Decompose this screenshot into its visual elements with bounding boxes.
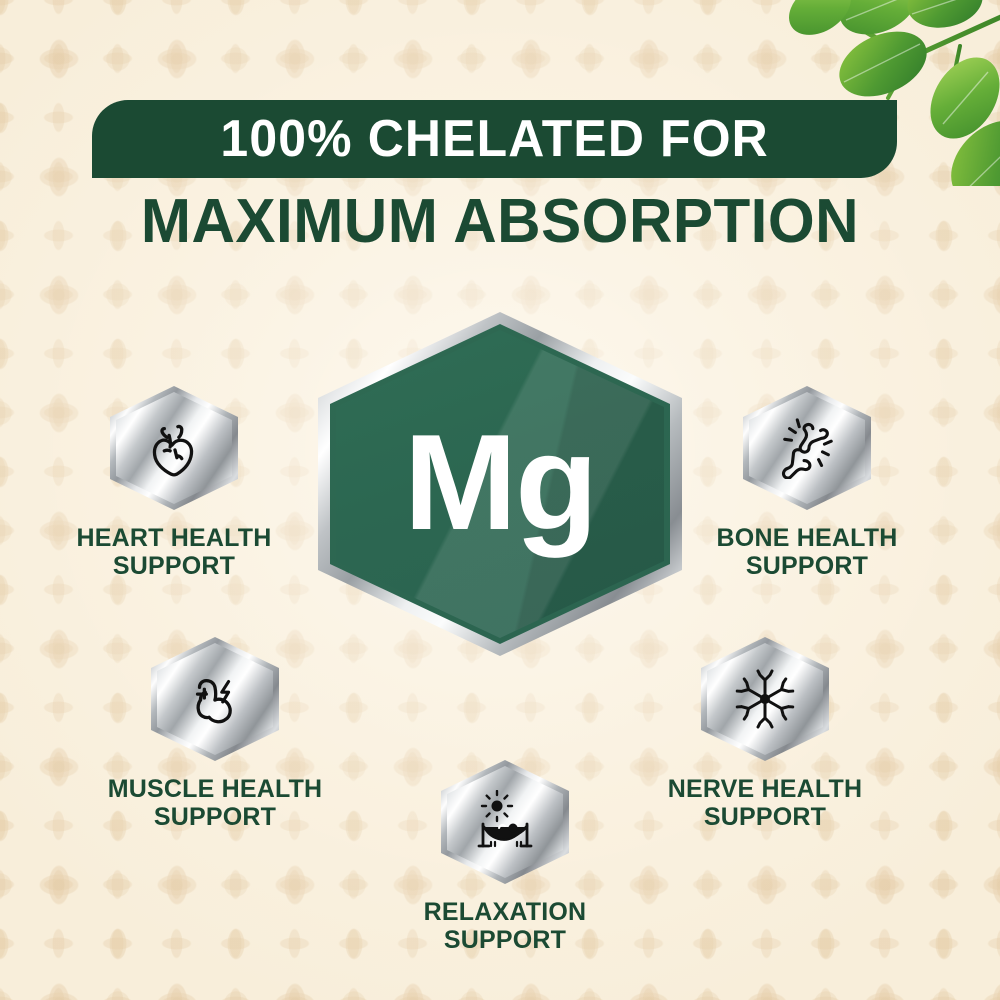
magnesium-benefits-infographic: 100% CHELATED FOR MAXIMUM ABSORPTION Mg: [0, 0, 1000, 1000]
benefit-nerve-health: NERVE HEALTH SUPPORT: [650, 637, 880, 831]
label-line-1: BONE HEALTH: [717, 524, 898, 552]
flexed-bicep-icon: [151, 637, 279, 761]
benefit-hex-heart: [110, 386, 238, 510]
benefit-hex-bone: [743, 386, 871, 510]
benefit-hex-nerve: [701, 637, 829, 761]
benefit-bone-health: BONE HEALTH SUPPORT: [692, 386, 922, 580]
label-line-2: SUPPORT: [154, 803, 276, 831]
label-line-2: SUPPORT: [113, 552, 235, 580]
label-line-1: MUSCLE HEALTH: [108, 775, 323, 803]
magnesium-badge: Mg: [318, 312, 682, 656]
label-line-2: SUPPORT: [746, 552, 868, 580]
benefit-label-muscle: MUSCLE HEALTH SUPPORT: [100, 775, 330, 831]
benefit-label-nerve: NERVE HEALTH SUPPORT: [650, 775, 880, 831]
label-line-1: RELAXATION: [424, 898, 587, 926]
benefit-heart-health: HEART HEALTH SUPPORT: [59, 386, 289, 580]
element-symbol: Mg: [318, 312, 682, 656]
label-line-2: SUPPORT: [704, 803, 826, 831]
benefit-hex-relaxation: [441, 760, 569, 884]
label-line-2: SUPPORT: [444, 926, 566, 954]
headline-line-1: 100% CHELATED FOR: [220, 109, 768, 169]
neuron-cell-icon: [701, 637, 829, 761]
anatomical-heart-icon: [110, 386, 238, 510]
benefit-hex-muscle: [151, 637, 279, 761]
label-line-1: NERVE HEALTH: [668, 775, 863, 803]
benefit-label-bone: BONE HEALTH SUPPORT: [692, 524, 922, 580]
bone-joint-icon: [743, 386, 871, 510]
benefit-relaxation: RELAXATION SUPPORT: [390, 760, 620, 954]
hammock-sun-icon: [441, 760, 569, 884]
benefit-muscle-health: MUSCLE HEALTH SUPPORT: [100, 637, 330, 831]
benefit-label-heart: HEART HEALTH SUPPORT: [59, 524, 289, 580]
benefit-label-relaxation: RELAXATION SUPPORT: [390, 898, 620, 954]
label-line-1: HEART HEALTH: [77, 524, 272, 552]
headline-banner: 100% CHELATED FOR: [92, 100, 897, 178]
headline-line-2: MAXIMUM ABSORPTION: [15, 186, 985, 257]
